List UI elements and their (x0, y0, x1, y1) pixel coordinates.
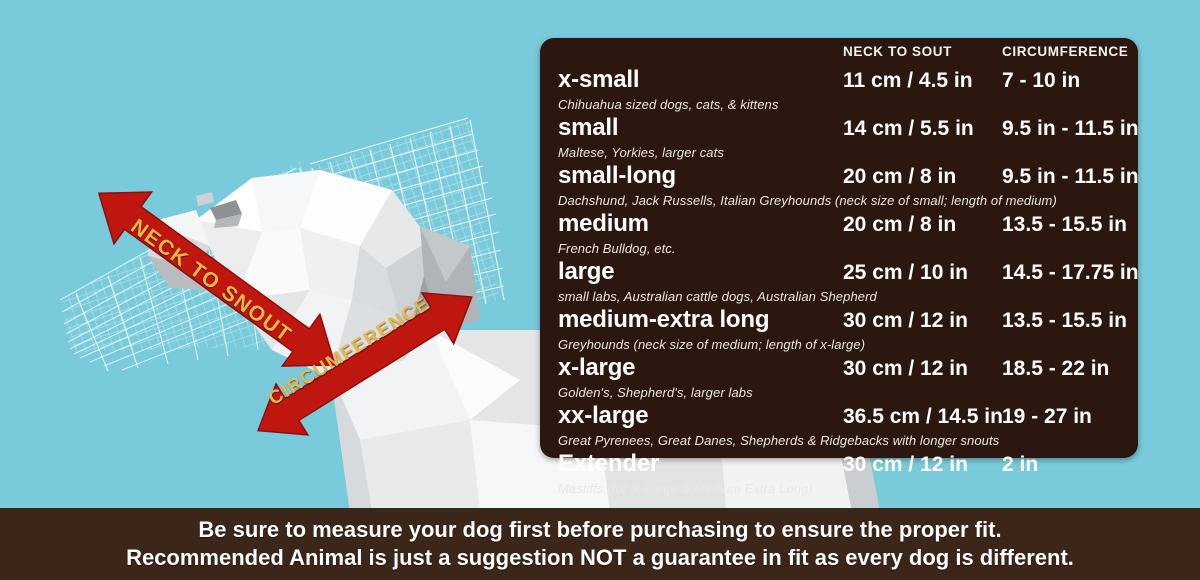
size-name: Extender (558, 450, 659, 478)
size-name: large (558, 258, 614, 286)
column-header-neck-to-snout: NECK TO SOUT (843, 44, 952, 59)
size-name: medium-extra long (558, 306, 769, 334)
size-neck-to-snout: 30 cm / 12 in (843, 453, 968, 477)
size-chart-panel: NECK TO SOUT CIRCUMFERENCE x-small 11 cm… (540, 38, 1138, 458)
table-row: medium-extra long 30 cm / 12 in 13.5 - 1… (540, 308, 1138, 356)
size-description: Maltese, Yorkies, larger cats (558, 145, 724, 160)
table-row: medium 20 cm / 8 in 13.5 - 15.5 in Frenc… (540, 212, 1138, 260)
size-circumference: 19 - 27 in (1002, 405, 1092, 429)
size-neck-to-snout: 25 cm / 10 in (843, 261, 968, 285)
footer-line-2: Recommended Animal is just a suggestion … (126, 544, 1074, 572)
size-neck-to-snout: 20 cm / 8 in (843, 165, 956, 189)
column-header-circumference: CIRCUMFERENCE (1002, 44, 1128, 59)
size-neck-to-snout: 30 cm / 12 in (843, 357, 968, 381)
size-description: Chihuahua sized dogs, cats, & kittens (558, 97, 779, 112)
size-neck-to-snout: 20 cm / 8 in (843, 213, 956, 237)
footer-banner: Be sure to measure your dog first before… (0, 508, 1200, 580)
size-name: xx-large (558, 402, 648, 430)
table-row: x-small 11 cm / 4.5 in 7 - 10 in Chihuah… (540, 68, 1138, 116)
size-name: small-long (558, 162, 676, 190)
size-circumference: 7 - 10 in (1002, 69, 1080, 93)
size-circumference: 9.5 in - 11.5 in (1002, 117, 1139, 141)
size-neck-to-snout: 14 cm / 5.5 in (843, 117, 974, 141)
size-neck-to-snout: 36.5 cm / 14.5 in (843, 405, 1003, 429)
size-circumference: 18.5 - 22 in (1002, 357, 1109, 381)
table-row: xx-large 36.5 cm / 14.5 in 19 - 27 in Gr… (540, 404, 1138, 452)
size-description: Dachshund, Jack Russells, Italian Greyho… (558, 193, 1057, 208)
size-circumference: 9.5 in - 11.5 in (1002, 165, 1139, 189)
circumference-arrow (255, 300, 525, 500)
size-description: Golden's, Shepherd's, larger labs (558, 385, 753, 400)
size-description: Mastiffs (for X-Large & Medium Extra Lon… (558, 481, 813, 496)
footer-line-1: Be sure to measure your dog first before… (198, 516, 1001, 544)
size-description: Greyhounds (neck size of medium; length … (558, 337, 865, 352)
size-neck-to-snout: 30 cm / 12 in (843, 309, 968, 333)
size-rows: x-small 11 cm / 4.5 in 7 - 10 in Chihuah… (540, 68, 1138, 500)
size-name: medium (558, 210, 649, 238)
infographic-stage: NECK TO SNOUT CIRCUMFERENCE NECK TO SOUT… (0, 0, 1200, 580)
size-circumference: 2 in (1002, 453, 1038, 477)
table-row: Extender 30 cm / 12 in 2 in Mastiffs (fo… (540, 452, 1138, 500)
size-neck-to-snout: 11 cm / 4.5 in (843, 69, 973, 93)
size-name: x-small (558, 66, 639, 94)
table-row: x-large 30 cm / 12 in 18.5 - 22 in Golde… (540, 356, 1138, 404)
size-circumference: 13.5 - 15.5 in (1002, 213, 1127, 237)
size-circumference: 13.5 - 15.5 in (1002, 309, 1127, 333)
size-circumference: 14.5 - 17.75 in (1002, 261, 1139, 285)
table-header-row: NECK TO SOUT CIRCUMFERENCE (540, 44, 1138, 66)
size-description: French Bulldog, etc. (558, 241, 676, 256)
table-row: large 25 cm / 10 in 14.5 - 17.75 in smal… (540, 260, 1138, 308)
size-description: Great Pyrenees, Great Danes, Shepherds &… (558, 433, 999, 448)
size-name: small (558, 114, 618, 142)
size-name: x-large (558, 354, 635, 382)
table-row: small-long 20 cm / 8 in 9.5 in - 11.5 in… (540, 164, 1138, 212)
size-description: small labs, Australian cattle dogs, Aust… (558, 289, 877, 304)
table-row: small 14 cm / 5.5 in 9.5 in - 11.5 in Ma… (540, 116, 1138, 164)
